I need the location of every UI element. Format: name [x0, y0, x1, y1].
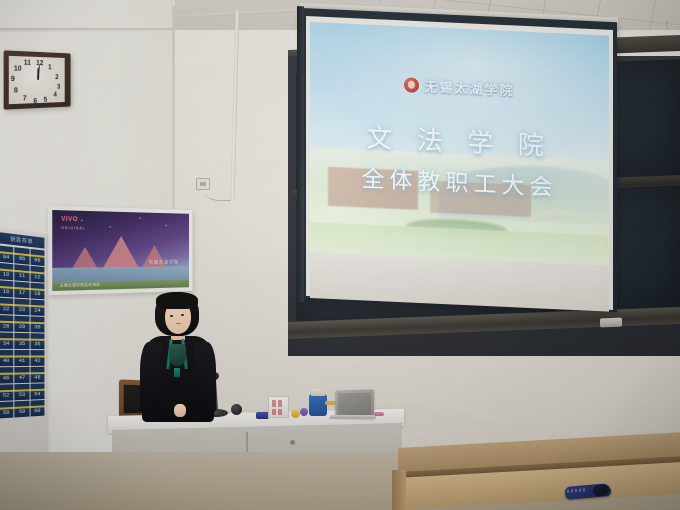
white-box[interactable] [268, 396, 289, 418]
key-pocket[interactable]: 46 [0, 367, 14, 384]
clock-numeral-3: 3 [57, 84, 60, 91]
wall-clock: 12 1 2 3 4 5 6 7 8 9 10 11 [4, 50, 71, 109]
clock-face: 12 1 2 3 4 5 6 7 8 9 10 11 [9, 56, 65, 104]
clock-numeral-9: 9 [11, 76, 15, 83]
student-desk-side-panel [392, 470, 406, 510]
presentation-slide[interactable]: 无锡太湖学院 WUXI TAIHU UNIVERSITY 文 法 学 院 全体教… [310, 22, 609, 268]
university-seal-icon [404, 77, 419, 93]
key-pocket[interactable]: 17 [15, 281, 30, 298]
key-pocket[interactable]: 24 [30, 299, 44, 315]
key-pocket[interactable]: 22 [0, 298, 14, 315]
key-pocket[interactable]: 54 [30, 383, 44, 399]
key-storage-board: 钥匙存放 04 05 06 10 11 12 16 17 18 22 23 24… [0, 229, 46, 483]
poster-footer-text: 无锡太湖学院宣传海报 [60, 282, 100, 288]
key-pocket[interactable]: 10 [0, 263, 14, 281]
clock-numeral-5: 5 [44, 97, 48, 104]
key-pocket[interactable]: 12 [30, 266, 44, 283]
presenter-id-badge [174, 368, 180, 377]
poster-structure-center [102, 236, 139, 270]
key-pocket-grid: 04 05 06 10 11 12 16 17 18 22 23 24 28 2… [0, 245, 44, 418]
key-pocket[interactable]: 60 [30, 400, 44, 417]
key-pocket[interactable]: 23 [15, 299, 30, 316]
key-pocket[interactable]: 05 [15, 247, 30, 264]
key-pocket[interactable]: 30 [30, 316, 44, 332]
purple-marker-cap[interactable] [300, 408, 308, 416]
key-pocket[interactable]: 40 [0, 350, 14, 366]
laptop-keyboard-base[interactable] [329, 415, 376, 419]
presenter-scarf [169, 344, 186, 366]
pink-item[interactable] [374, 412, 384, 416]
key-pocket[interactable]: 35 [15, 333, 30, 349]
key-pocket[interactable]: 47 [15, 367, 30, 383]
clock-numeral-7: 7 [23, 95, 27, 102]
left-wall-ceiling-edge [0, 28, 176, 32]
blue-figurine[interactable] [309, 394, 327, 416]
mic-control-knob[interactable] [231, 404, 242, 415]
key-pocket[interactable]: 48 [30, 367, 44, 383]
key-pocket[interactable]: 04 [0, 245, 14, 263]
key-pocket[interactable]: 36 [30, 333, 44, 349]
clock-numeral-6: 6 [33, 98, 37, 105]
presenter-left-eye [170, 315, 173, 317]
presenter-hair-bangs [156, 292, 198, 309]
presenter-right-eye [181, 314, 184, 316]
classroom-photo: 无锡太湖学院 WUXI TAIHU UNIVERSITY 文 法 学 院 全体教… [0, 0, 680, 510]
key-pocket[interactable]: 28 [0, 315, 14, 332]
key-pocket[interactable]: 11 [15, 264, 30, 281]
poster-brand-badge: VIVO [61, 217, 78, 224]
poster-artwork: VIVO ORIGINAL 无锡太湖学院 无锡太湖学院宣传海报 [52, 210, 189, 291]
poster-caption: 无锡太湖学院 [149, 260, 179, 266]
key-pocket[interactable]: 06 [30, 249, 44, 266]
key-pocket[interactable]: 41 [15, 350, 30, 366]
clock-numeral-10: 10 [14, 65, 22, 72]
presenter-right-arm [194, 342, 216, 412]
presenter-left-arm [140, 342, 162, 412]
clock-numeral-4: 4 [53, 92, 56, 99]
clock-numeral-8: 8 [14, 87, 18, 94]
key-pocket[interactable]: 29 [15, 316, 30, 332]
institution-name: 无锡太湖学院 [424, 76, 514, 99]
wall-poster: VIVO ORIGINAL 无锡太湖学院 无锡太湖学院宣传海报 [48, 206, 193, 296]
chalk-eraser[interactable] [600, 318, 622, 328]
key-pocket[interactable]: 52 [0, 384, 14, 401]
key-pocket[interactable]: 53 [15, 384, 30, 401]
figurine-arm [325, 401, 336, 405]
poster-structure-left [72, 247, 99, 270]
key-pocket[interactable]: 18 [30, 283, 44, 300]
key-pocket[interactable]: 34 [0, 332, 14, 348]
clock-numeral-1: 1 [48, 64, 51, 71]
key-pocket[interactable]: 42 [30, 350, 44, 366]
key-pocket[interactable]: 59 [15, 401, 30, 418]
projector-screen-left-edge [297, 6, 304, 302]
clock-numeral-11: 11 [24, 59, 31, 66]
presenter [138, 292, 218, 422]
yellow-marker-cap[interactable] [291, 410, 300, 418]
key-pocket[interactable]: 58 [0, 401, 14, 418]
presenter-hand [174, 404, 186, 417]
key-pocket[interactable]: 16 [0, 280, 14, 297]
clock-numeral-2: 2 [55, 74, 58, 81]
poster-brand-subtext: ORIGINAL [61, 226, 85, 231]
